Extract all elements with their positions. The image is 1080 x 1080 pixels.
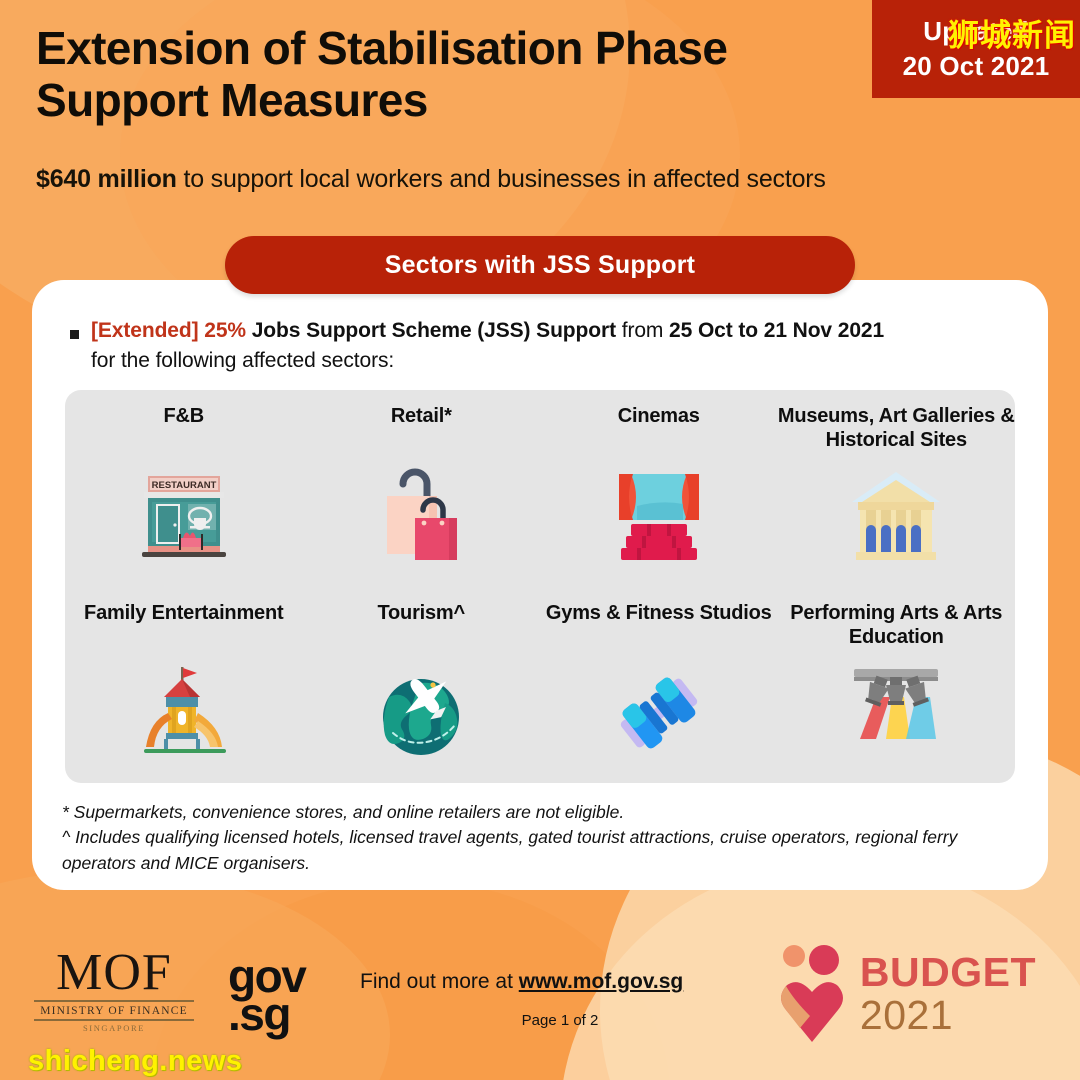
bullet-marker-icon [70, 330, 79, 339]
bullet-row: [Extended] 25% Jobs Support Scheme (JSS)… [62, 316, 1018, 377]
footnote-caret: ^ Includes qualifying licensed hotels, l… [62, 825, 1022, 876]
sector-cell-family-entertainment: Family Entertainment [65, 587, 303, 784]
mof-letters: MOF [34, 948, 194, 997]
sector-cell-retail: Retail* [303, 390, 541, 587]
bullet-from: from [622, 319, 669, 342]
footnote-asterisk: * Supermarkets, convenience stores, and … [62, 800, 1022, 825]
subtitle-amount: $640 million [36, 165, 177, 193]
update-badge-date: 20 Oct 2021 [903, 51, 1050, 82]
sector-label-cinemas: Cinemas [618, 404, 700, 456]
budget-2021-logo: BUDGET 2021 [766, 940, 1036, 1048]
globe-airplane-icon [366, 659, 476, 767]
subtitle-rest: to support local workers and businesses … [177, 165, 826, 193]
sector-label-fnb: F&B [163, 404, 204, 456]
page-subtitle: $640 million to support local workers an… [36, 165, 896, 194]
restaurant-icon: RESTAURANT [129, 462, 239, 570]
sector-grid: F&B RESTAURANT [65, 390, 1015, 783]
header-block: Extension of Stabilisation Phase Support… [36, 22, 896, 194]
sector-label-retail: Retail* [391, 404, 452, 456]
site-watermark: shicheng.news [28, 1045, 242, 1078]
sector-cell-fnb: F&B RESTAURANT [65, 390, 303, 587]
mof-ministry-label: MINISTRY OF FINANCE [34, 1005, 194, 1017]
govsg-logo[interactable]: gov .sg [228, 958, 305, 1033]
museum-icon [841, 462, 951, 570]
stage-lights-icon [841, 659, 951, 767]
budget-year: 2021 [860, 995, 1036, 1036]
mof-rule-bottom [34, 1019, 194, 1021]
bullet-line2: for the following affected sectors: [91, 349, 394, 372]
bullet-text: [Extended] 25% Jobs Support Scheme (JSS)… [91, 316, 884, 377]
playground-icon [129, 659, 239, 767]
chinese-watermark: 狮城新闻 [948, 10, 1076, 55]
footnotes: * Supermarkets, convenience stores, and … [62, 800, 1022, 876]
extended-tag: [Extended] 25% [91, 319, 246, 342]
sector-cell-gyms: Gyms & Fitness Studios [540, 587, 778, 784]
sector-label-tourism: Tourism^ [378, 601, 466, 653]
svg-text:RESTAURANT: RESTAURANT [151, 480, 216, 491]
page-title: Extension of Stabilisation Phase Support… [36, 22, 896, 127]
budget-word: BUDGET [860, 952, 1036, 993]
mof-website-link[interactable]: www.mof.gov.sg [519, 970, 684, 993]
sector-cell-tourism: Tourism^ [303, 587, 541, 784]
dumbbell-icon [604, 659, 714, 767]
find-out-more: Find out more at www.mof.gov.sg [360, 970, 760, 994]
mof-country-label: SINGAPORE [34, 1023, 194, 1033]
bullet-date-range: 25 Oct to 21 Nov 2021 [669, 319, 884, 342]
sector-label-family-entertainment: Family Entertainment [84, 601, 283, 653]
sector-cell-cinemas: Cinemas [540, 390, 778, 587]
shopping-bags-icon [366, 462, 476, 570]
mof-logo: MOF MINISTRY OF FINANCE SINGAPORE [34, 948, 194, 1033]
sector-label-museums: Museums, Art Galleries & Historical Site… [778, 404, 1016, 456]
sector-cell-performing-arts: Performing Arts & Arts Education [778, 587, 1016, 784]
cinema-icon [604, 462, 714, 570]
sector-label-gyms: Gyms & Fitness Studios [546, 601, 772, 653]
sector-label-performing-arts: Performing Arts & Arts Education [778, 601, 1016, 653]
page-number: Page 1 of 2 [360, 1012, 760, 1029]
budget-text: BUDGET 2021 [860, 952, 1036, 1036]
bullet-bold-mid: Jobs Support Scheme (JSS) Support [246, 319, 622, 342]
find-out-prefix: Find out more at [360, 970, 519, 993]
sectors-banner: Sectors with JSS Support [225, 236, 855, 294]
budget-heart-icon [766, 940, 852, 1048]
sectors-banner-label: Sectors with JSS Support [385, 251, 695, 280]
sector-cell-museums: Museums, Art Galleries & Historical Site… [778, 390, 1016, 587]
